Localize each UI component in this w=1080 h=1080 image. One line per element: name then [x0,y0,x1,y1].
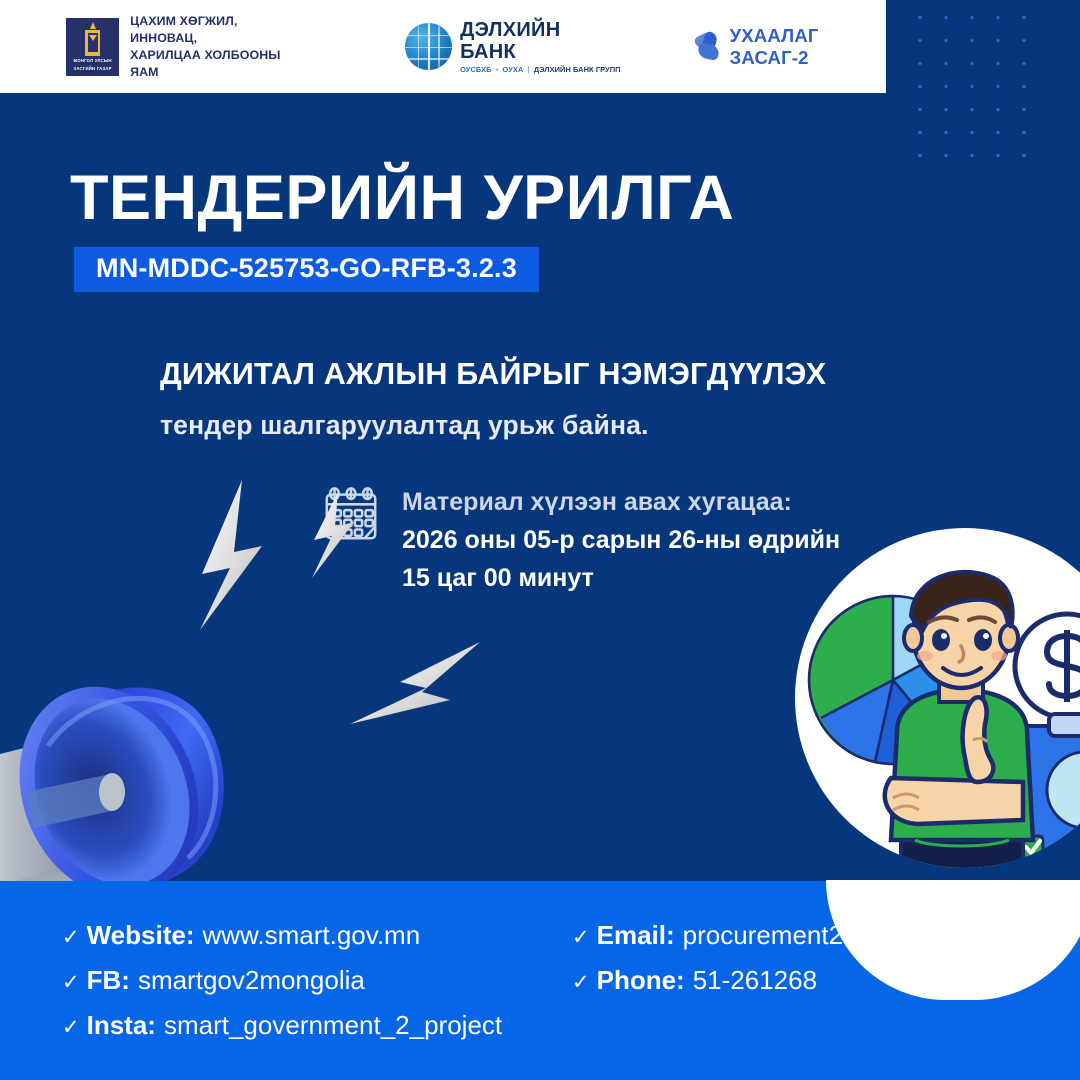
ministry-name-line2: ХАРИЛЦАА ХОЛБООНЫ ЯАМ [130,47,297,81]
clipboard-check-row-2 [1021,866,1080,868]
smart-government-mark-icon [693,30,727,64]
contact-row-website[interactable]: ✓ Website: www.smart.gov.mn [62,914,502,959]
ministry-name-block: ЦАХИМ ХӨГЖИЛ, ИННОВАЦ, ХАРИЛЦАА ХОЛБООНЫ… [130,13,297,81]
world-bank-sub-right: ДЭЛХИЙН БАНК ГРУПП [534,65,621,74]
emblem-caption-line2: ЗАСГИЙН ГАЗАР [73,66,111,72]
world-bank-subtitle: ОУСБХБ • ОУХА | ДЭЛХИЙН БАНК ГРУПП [460,65,620,74]
contact-column-right: ✓ Email: procurement2@smart.gov.mn ✓ Pho… [572,914,1025,1004]
subheading-block: ДИЖИТАЛ АЖЛЫН БАЙРЫГ НЭМЭГДҮҮЛЭХ тендер … [160,354,826,445]
smart-government-title: УХААЛАГ ЗАСАГ-2 [730,25,886,69]
contact-row-instagram[interactable]: ✓ Insta: smart_government_2_project [62,1004,502,1049]
contact-value-email[interactable]: procurement2@smart.gov.mn [683,914,1025,956]
contact-column-left: ✓ Website: www.smart.gov.mn ✓ FB: smartg… [62,914,502,1049]
check-icon: ✓ [62,962,80,1004]
tender-reference-badge: MN-MDDC-525753-GO-RFB-3.2.3 [74,247,539,292]
check-icon: ✓ [62,1007,80,1049]
contact-row-phone[interactable]: ✓ Phone: 51-261268 [572,959,1025,1004]
check-icon: ✓ [572,962,590,1004]
logo-ministry-of-digital-development: МОНГОЛ УЛСЫН ЗАСГИЙН ГАЗАР ЦАХИМ ХӨГЖИЛ,… [66,13,297,81]
page-title: ТЕНДЕРИЙН УРИЛГА [70,163,734,233]
bolt-small-icon [312,492,354,578]
contact-value-phone[interactable]: 51-261268 [693,959,817,1001]
contact-value-website[interactable]: www.smart.gov.mn [202,914,420,956]
contact-label-facebook: FB: [87,959,130,1001]
world-bank-title: ДЭЛХИЙН БАНК [460,19,620,63]
bullet-separator-icon: • [496,65,499,74]
contact-footer: ✓ Website: www.smart.gov.mn ✓ FB: smartg… [0,881,1080,1080]
world-bank-sub-mid: ОУХА [503,65,524,74]
logo-smart-government-2: УХААЛАГ ЗАСАГ-2 [693,25,886,69]
check-icon: ✓ [572,917,590,959]
contact-value-instagram[interactable]: smart_government_2_project [164,1004,502,1046]
ministry-name-line1: ЦАХИМ ХӨГЖИЛ, ИННОВАЦ, [130,13,297,47]
subheading-line2: тендер шалгаруулалтад урьж байна. [160,405,826,445]
logo-header-bar: МОНГОЛ УЛСЫН ЗАСГИЙН ГАЗАР ЦАХИМ ХӨГЖИЛ,… [0,0,886,93]
world-bank-sub-left: ОУСБХБ [460,65,491,74]
contact-value-facebook[interactable]: smartgov2mongolia [138,959,365,1001]
check-icon: ✓ [62,917,80,959]
pipe-separator-icon: | [528,65,530,74]
soyombo-symbol-icon [85,22,100,56]
contact-label-email: Email: [597,914,675,956]
contact-label-phone: Phone: [597,959,685,1001]
contact-row-email[interactable]: ✓ Email: procurement2@smart.gov.mn [572,914,1025,959]
emblem-caption-line1: МОНГОЛ УЛСЫН [73,58,111,64]
world-bank-text-block: ДЭЛХИЙН БАНК ОУСБХБ • ОУХА | ДЭЛХИЙН БАН… [460,19,620,74]
logo-world-bank: ДЭЛХИЙН БАНК ОУСБХБ • ОУХА | ДЭЛХИЙН БАН… [405,19,620,74]
contact-label-website: Website: [87,914,195,956]
subheading-line1: ДИЖИТАЛ АЖЛЫН БАЙРЫГ НЭМЭГДҮҮЛЭХ [160,354,826,394]
contact-row-facebook[interactable]: ✓ FB: smartgov2mongolia [62,959,502,1004]
business-analytics-illustration [795,528,1080,868]
dot-pattern-decoration [905,4,1033,176]
globe-icon [405,23,452,70]
megaphone-speaker-cone [99,773,125,811]
poster-canvas: МОНГОЛ УЛСЫН ЗАСГИЙН ГАЗАР ЦАХИМ ХӨГЖИЛ,… [0,0,1080,1080]
contact-label-instagram: Insta: [87,1004,156,1046]
mongolia-state-emblem-icon: МОНГОЛ УЛСЫН ЗАСГИЙН ГАЗАР [66,18,119,76]
